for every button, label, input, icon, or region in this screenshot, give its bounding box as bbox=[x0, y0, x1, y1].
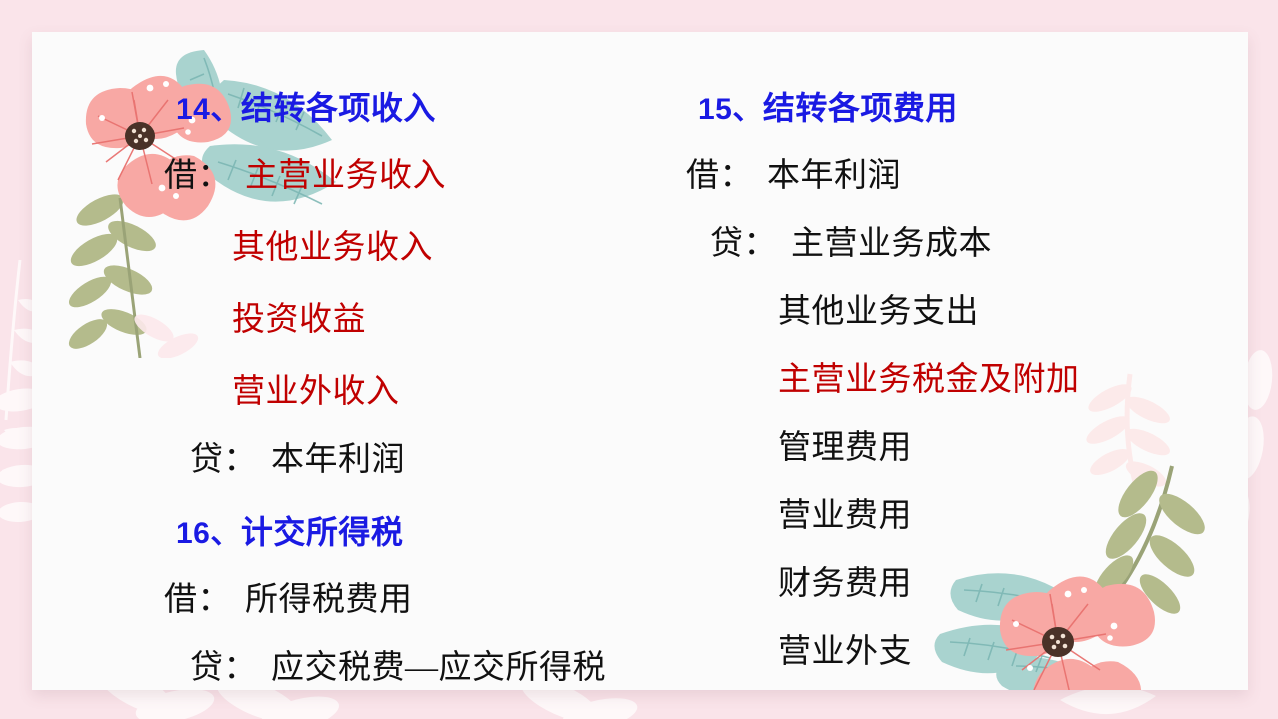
left-column: 14、结转各项收入 借：主营业务收入 其他业务收入 投资收益 营业外收入 贷：本… bbox=[140, 32, 660, 690]
entry-15-credit-line-1: 贷：主营业务成本 bbox=[710, 228, 992, 261]
entry-15-debit-line-1: 借：本年利润 bbox=[686, 160, 901, 193]
entry-15-heading: 15、结转各项费用 bbox=[698, 92, 958, 125]
debit-label: 借： bbox=[164, 582, 231, 618]
credit-label: 贷： bbox=[190, 650, 257, 686]
account-name: 营业费用 bbox=[778, 500, 912, 533]
entry-15-credit-line-6: 财务费用 bbox=[778, 568, 912, 601]
account-name: 应交税费—应交所得税 bbox=[271, 652, 606, 685]
right-column: 15、结转各项费用 借：本年利润 贷：主营业务成本 其他业务支出 主营业务税金及… bbox=[652, 32, 1212, 690]
entry-15-credit-line-5: 营业费用 bbox=[778, 500, 912, 533]
account-name: 营业外支 bbox=[778, 636, 912, 669]
entry-15-credit-line-2: 其他业务支出 bbox=[778, 296, 979, 329]
entry-14-debit-line-4: 营业外收入 bbox=[232, 376, 400, 409]
entry-15-number: 15、 bbox=[698, 93, 763, 126]
entry-16-credit-line-1: 贷：应交税费—应交所得税 bbox=[190, 652, 606, 685]
account-name: 本年利润 bbox=[271, 444, 405, 477]
entry-15-credit-line-7: 营业外支 bbox=[778, 636, 912, 669]
entry-15-credit-line-4: 管理费用 bbox=[778, 432, 912, 465]
account-name: 其他业务支出 bbox=[778, 296, 979, 329]
entry-15-credit-line-3: 主营业务税金及附加 bbox=[778, 364, 1080, 397]
credit-label: 贷： bbox=[710, 226, 777, 262]
entry-14-number: 14、 bbox=[176, 93, 241, 126]
slide-text-content: 14、结转各项收入 借：主营业务收入 其他业务收入 投资收益 营业外收入 贷：本… bbox=[32, 32, 1248, 690]
debit-label: 借： bbox=[164, 158, 231, 194]
entry-15-title: 结转各项费用 bbox=[763, 90, 958, 126]
entry-16-title: 计交所得税 bbox=[241, 514, 404, 550]
entry-14-debit-line-1: 借：主营业务收入 bbox=[164, 160, 446, 193]
entry-14-credit-line-1: 贷：本年利润 bbox=[190, 444, 405, 477]
account-name: 其他业务收入 bbox=[232, 232, 433, 265]
debit-label: 借： bbox=[686, 158, 753, 194]
account-name: 主营业务成本 bbox=[791, 228, 992, 261]
slide-canvas: 14、结转各项收入 借：主营业务收入 其他业务收入 投资收益 营业外收入 贷：本… bbox=[0, 0, 1278, 719]
entry-14-debit-line-3: 投资收益 bbox=[232, 304, 366, 337]
account-name: 主营业务收入 bbox=[245, 160, 446, 193]
account-name: 所得税费用 bbox=[245, 584, 413, 617]
entry-16-number: 16、 bbox=[176, 517, 241, 550]
entry-14-title: 结转各项收入 bbox=[241, 90, 436, 126]
account-name: 管理费用 bbox=[778, 432, 912, 465]
account-name: 投资收益 bbox=[232, 304, 366, 337]
entry-16-heading: 16、计交所得税 bbox=[176, 516, 403, 549]
content-card: 14、结转各项收入 借：主营业务收入 其他业务收入 投资收益 营业外收入 贷：本… bbox=[32, 32, 1248, 690]
account-name: 财务费用 bbox=[778, 568, 912, 601]
account-name: 主营业务税金及附加 bbox=[778, 364, 1080, 397]
credit-label: 贷： bbox=[190, 442, 257, 478]
account-name: 营业外收入 bbox=[232, 376, 400, 409]
account-name: 本年利润 bbox=[767, 160, 901, 193]
entry-16-debit-line-1: 借：所得税费用 bbox=[164, 584, 413, 617]
entry-14-heading: 14、结转各项收入 bbox=[176, 92, 436, 125]
entry-14-debit-line-2: 其他业务收入 bbox=[232, 232, 433, 265]
